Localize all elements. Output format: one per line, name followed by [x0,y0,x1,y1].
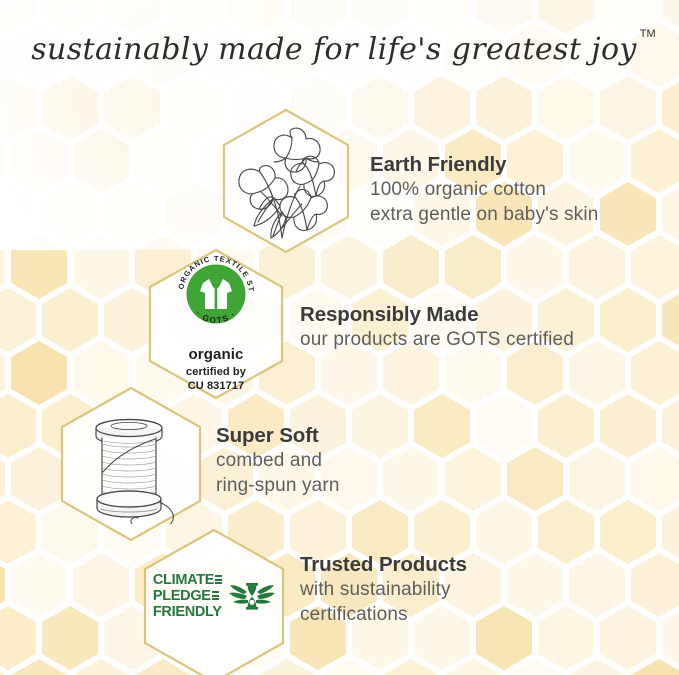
gots-organic-label: organic [189,346,244,363]
feature-line: certifications [300,602,467,627]
feature-text-earth-friendly: Earth Friendly 100% organic cotton extra… [370,153,598,227]
feature-line: 100% organic cotton [370,177,598,202]
feature-text-trusted-products: Trusted Products with sustainability cer… [300,553,467,627]
feature-hexagon-super-soft [60,386,202,542]
feature-title: Earth Friendly [370,153,598,177]
feature-hexagon-responsibly-made: GLOBAL ORGANIC TEXTILE STANDARD · GOTS ·… [148,248,284,400]
feature-hexagon-trusted-products: CLIMATE PLEDGE FRIENDLY [143,528,285,675]
sustainability-infographic: sustainably made for life's greatest joy… [0,0,679,675]
feature-line: ring-spun yarn [216,473,340,498]
headline-script-text: sustainably made for life's greatest joy… [40,21,640,75]
feature-text-responsibly-made: Responsibly Made our products are GOTS c… [300,303,574,352]
cpf-line-2: PLEDGE [153,588,211,604]
winged-hourglass-icon [229,576,275,616]
cpf-line-1: CLIMATE [153,572,214,588]
cpf-line-3: FRIENDLY [153,604,222,620]
feature-line: extra gentle on baby's skin [370,202,598,227]
headline-text: sustainably made for life's greatest joy [31,32,637,67]
headline-trademark: TM [639,28,655,40]
feature-text-super-soft: Super Soft combed and ring-spun yarn [216,424,340,498]
gots-seal-icon: GLOBAL ORGANIC TEXTILE STANDARD · GOTS · [169,247,263,341]
thread-spool-icon [60,386,202,542]
cotton-boll-icon [222,108,350,254]
feature-line: our products are GOTS certified [300,327,574,352]
headline: sustainably made for life's greatest joy… [0,22,679,74]
feature-title: Responsibly Made [300,303,574,327]
feature-title: Trusted Products [300,553,467,577]
gots-certification-icon: GLOBAL ORGANIC TEXTILE STANDARD · GOTS ·… [148,248,284,400]
feature-title: Super Soft [216,424,340,448]
climate-pledge-wordmark: CLIMATE PLEDGE FRIENDLY [153,572,222,621]
climate-pledge-friendly-icon: CLIMATE PLEDGE FRIENDLY [143,528,285,675]
feature-line: combed and [216,448,340,473]
feature-hexagon-earth-friendly [222,108,350,254]
feature-line: with sustainability [300,577,467,602]
gots-certified-by-label: certified by [186,366,246,380]
cpf-bars-icon [212,591,219,600]
cpf-bars-icon [215,575,222,584]
